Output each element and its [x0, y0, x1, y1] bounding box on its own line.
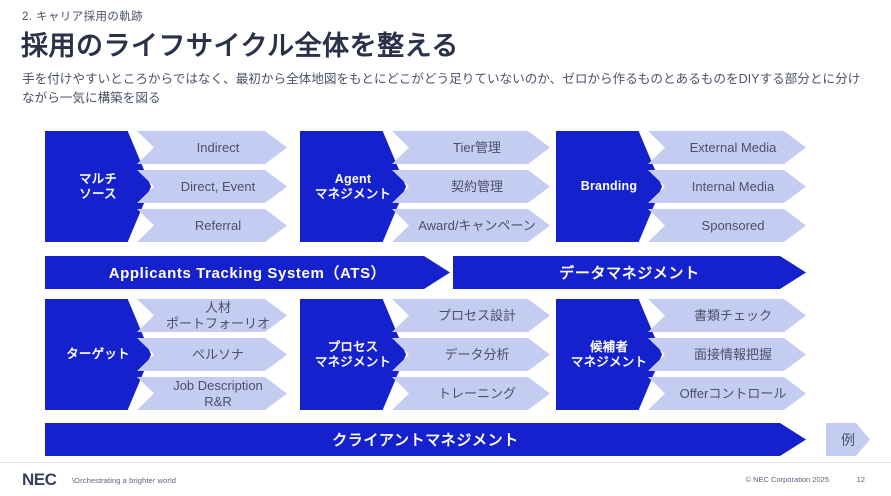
group-item-target-3-label-line1: Job Description [173, 378, 263, 393]
band-client-management[interactable]: クライアントマネジメント [45, 423, 806, 456]
group-head-process-management[interactable]: プロセス マネジメント [300, 299, 406, 410]
band-data-management[interactable]: データマネジメント [453, 256, 806, 289]
group-head-agent-management[interactable]: Agent マネジメント [300, 131, 406, 242]
slide-lead-paragraph: 手を付けやすいところからではなく、最初から全体地図をもとにどこがどう足りていない… [22, 70, 862, 108]
group-item-target-2[interactable]: ペルソナ [137, 338, 287, 371]
group-item-process-2-label: データ分析 [422, 347, 519, 363]
group-item-branding-1-label: External Media [668, 140, 787, 156]
group-item-process-3-label: トレーニング [416, 386, 526, 402]
group-item-process-3[interactable]: トレーニング [392, 377, 550, 410]
group-item-process-1-label: プロセス設計 [416, 308, 526, 324]
group-item-branding-2-label: Internal Media [670, 179, 784, 195]
band-data-management-label: データマネジメント [559, 262, 699, 283]
nec-tagline: \Orchestrating a brighter world [72, 476, 176, 485]
band-client-management-label: クライアントマネジメント [332, 429, 519, 450]
group-item-multisource-1[interactable]: Indirect [137, 131, 287, 164]
group-item-candidate-3[interactable]: Offerコントロール [648, 377, 806, 410]
group-head-target[interactable]: ターゲット [45, 299, 151, 410]
group-item-multisource-3-label: Referral [173, 218, 251, 234]
group-head-branding-line1: Branding [581, 179, 637, 194]
group-head-agent-management-line1: Agent [315, 172, 391, 187]
footer-divider [0, 462, 891, 463]
group-item-process-1[interactable]: プロセス設計 [392, 299, 550, 332]
group-item-candidate-2[interactable]: 面接情報把握 [648, 338, 806, 371]
group-item-candidate-3-label: Offerコントロール [658, 386, 797, 402]
group-head-candidate-management-line1: 候補者 [571, 340, 647, 355]
group-item-multisource-2[interactable]: Direct, Event [137, 170, 287, 203]
group-item-agent-3-label: Award/キャンペーン [396, 218, 546, 234]
group-item-branding-1[interactable]: External Media [648, 131, 806, 164]
group-head-process-management-line1: プロセス [315, 340, 391, 355]
group-item-candidate-1[interactable]: 書類チェック [648, 299, 806, 332]
group-item-candidate-2-label: 面接情報把握 [672, 347, 782, 363]
group-item-multisource-1-label: Indirect [175, 140, 250, 156]
nec-logo: NEC [22, 470, 56, 490]
group-head-process-management-line2: マネジメント [315, 355, 391, 370]
group-head-multisource[interactable]: マルチ ソース [45, 131, 151, 242]
group-item-multisource-2-label: Direct, Event [159, 179, 265, 195]
group-item-branding-3-label: Sponsored [680, 218, 775, 234]
group-item-target-1-label-line2: ポートフォーリオ [166, 316, 270, 331]
slide-eyebrow: 2. キャリア採用の軌跡 [22, 8, 143, 24]
group-item-target-1-label-line1: 人材 [205, 300, 231, 315]
group-item-multisource-3[interactable]: Referral [137, 209, 287, 242]
group-item-candidate-1-label: 書類チェック [672, 308, 782, 324]
group-head-candidate-management-line2: マネジメント [571, 355, 647, 370]
group-item-branding-3[interactable]: Sponsored [648, 209, 806, 242]
group-item-target-2-label: ペルソナ [170, 347, 254, 363]
band-applicants-tracking-system[interactable]: Applicants Tracking System（ATS） [45, 256, 450, 289]
group-item-process-2[interactable]: データ分析 [392, 338, 550, 371]
group-item-agent-2-label: 契約管理 [429, 179, 513, 195]
group-head-candidate-management[interactable]: 候補者 マネジメント [556, 299, 662, 410]
group-item-branding-2[interactable]: Internal Media [648, 170, 806, 203]
group-item-agent-2[interactable]: 契約管理 [392, 170, 550, 203]
group-item-target-3[interactable]: Job Description R&R [137, 377, 287, 410]
group-head-multisource-line2: ソース [79, 187, 117, 202]
group-head-target-line1: ターゲット [66, 347, 130, 362]
band-applicants-tracking-system-label: Applicants Tracking System（ATS） [109, 262, 387, 283]
page-number: 12 [857, 475, 865, 484]
group-item-agent-1-label: Tier管理 [431, 140, 511, 156]
page-title: 採用のライフサイクル全体を整える [21, 24, 459, 63]
example-tag-label: 例 [841, 430, 855, 450]
group-head-multisource-line1: マルチ [79, 172, 117, 187]
group-item-agent-1[interactable]: Tier管理 [392, 131, 550, 164]
group-item-target-1[interactable]: 人材 ポートフォーリオ [137, 299, 287, 332]
group-item-target-3-label-line2: R&R [204, 394, 231, 409]
group-item-agent-3[interactable]: Award/キャンペーン [392, 209, 550, 242]
group-head-branding[interactable]: Branding [556, 131, 662, 242]
copyright-notice: © NEC Corporation 2025 [746, 475, 830, 484]
example-tag: 例 [826, 423, 870, 456]
group-head-agent-management-line2: マネジメント [315, 187, 391, 202]
